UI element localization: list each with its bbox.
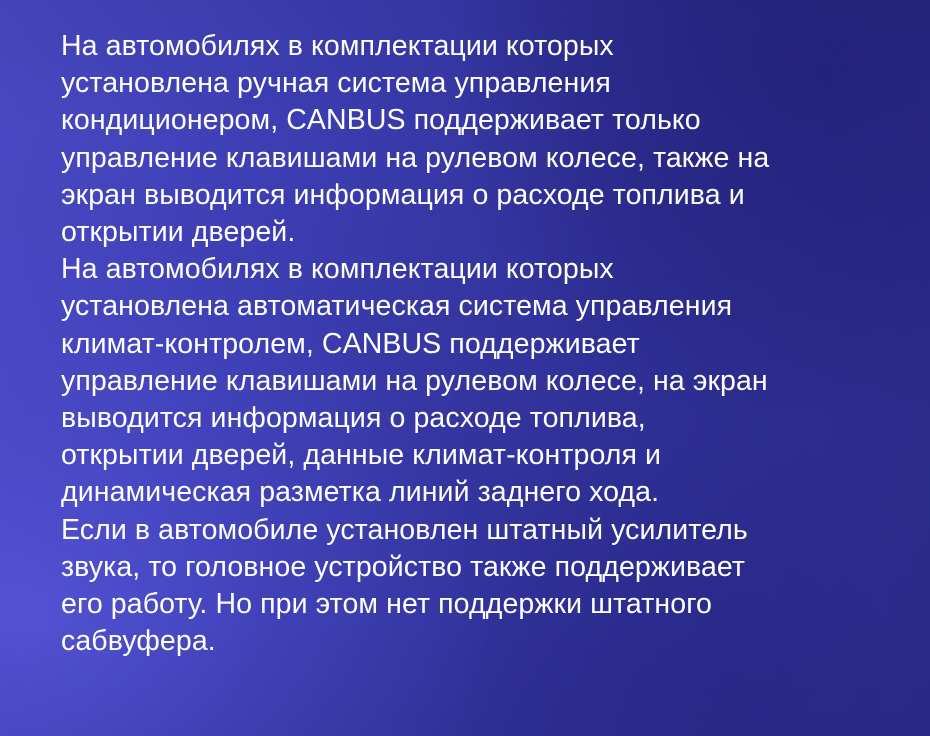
paragraph-manual-ac: На автомобилях в комплектации которых ус… [61,28,891,251]
text-line: звука, то головное устройство также подд… [61,549,891,586]
slide-canvas: На автомобилях в комплектации которых ус… [0,0,930,736]
text-line: установлена ручная система управления [61,65,891,102]
paragraph-auto-climate: На автомобилях в комплектации которых ус… [61,251,891,511]
text-line: сабвуфера. [61,623,891,660]
text-line: Если в автомобиле установлен штатный уси… [61,512,891,549]
text-line: экран выводится информация о расходе топ… [61,177,891,214]
text-line: кондиционером, CANBUS поддерживает тольк… [61,102,891,139]
text-line: выводится информация о расходе топлива, [61,400,891,437]
text-line: На автомобилях в комплектации которых [61,251,891,288]
slide-text-block: На автомобилях в комплектации которых ус… [61,28,891,660]
text-line: открытии дверей. [61,214,891,251]
text-line: климат-контролем, CANBUS поддерживает [61,326,891,363]
paragraph-amplifier: Если в автомобиле установлен штатный уси… [61,512,891,661]
text-line: На автомобилях в комплектации которых [61,28,891,65]
text-line: управление клавишами на рулевом колесе, … [61,363,891,400]
text-line: управление клавишами на рулевом колесе, … [61,140,891,177]
text-line: открытии дверей, данные климат-контроля … [61,437,891,474]
text-line: его работу. Но при этом нет поддержки шт… [61,586,891,623]
text-line: динамическая разметка линий заднего хода… [61,474,891,511]
text-line: установлена автоматическая система управ… [61,288,891,325]
